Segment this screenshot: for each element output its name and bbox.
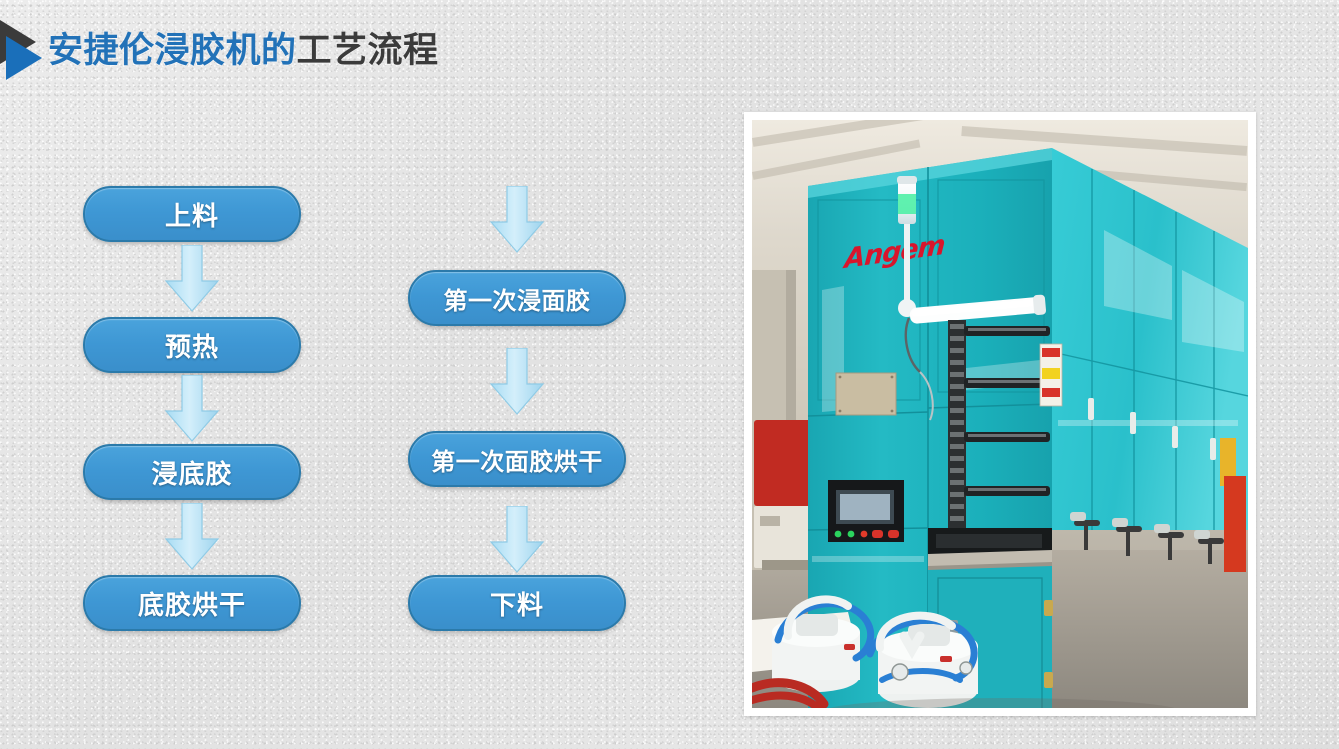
slide-root: 安捷伦浸胶机的工艺流程 上料: [0, 0, 1339, 749]
flow-node-yure[interactable]: 预热: [83, 317, 301, 373]
flow-node-label: 浸底胶: [151, 454, 232, 491]
flow-column-right: 第一次浸面胶 第一次面胶烘干 下料: [370, 0, 700, 749]
flow-node-label: 上料: [165, 196, 219, 233]
arrow-down-icon: [163, 375, 221, 443]
process-flow-diagram: 上料 预热: [0, 0, 740, 749]
arrow-down-icon: [488, 348, 546, 416]
photo-frame: Angem: [744, 112, 1256, 716]
flow-node-label: 预热: [165, 327, 219, 364]
arrow-down-icon: [488, 186, 546, 254]
flow-node-label: 第一次浸面胶: [444, 281, 591, 316]
flow-node-dijiaohonggan[interactable]: 底胶烘干: [83, 575, 301, 631]
flow-column-left: 上料 预热: [45, 0, 375, 749]
flow-node-jindijiao[interactable]: 浸底胶: [83, 444, 301, 500]
flow-node-diyici-mianjiao-honggan[interactable]: 第一次面胶烘干: [408, 431, 626, 487]
arrow-down-icon: [163, 503, 221, 571]
flow-node-label: 下料: [490, 585, 544, 622]
flow-node-label: 底胶烘干: [138, 585, 246, 622]
dipping-machine-photo: Angem: [752, 120, 1248, 708]
flow-node-diyici-jinmianjiao[interactable]: 第一次浸面胶: [408, 270, 626, 326]
arrow-down-icon: [163, 245, 221, 313]
flow-node-shangliao[interactable]: 上料: [83, 186, 301, 242]
arrow-down-icon: [488, 506, 546, 574]
flow-node-xialiao[interactable]: 下料: [408, 575, 626, 631]
flow-node-label: 第一次面胶烘干: [431, 442, 603, 477]
